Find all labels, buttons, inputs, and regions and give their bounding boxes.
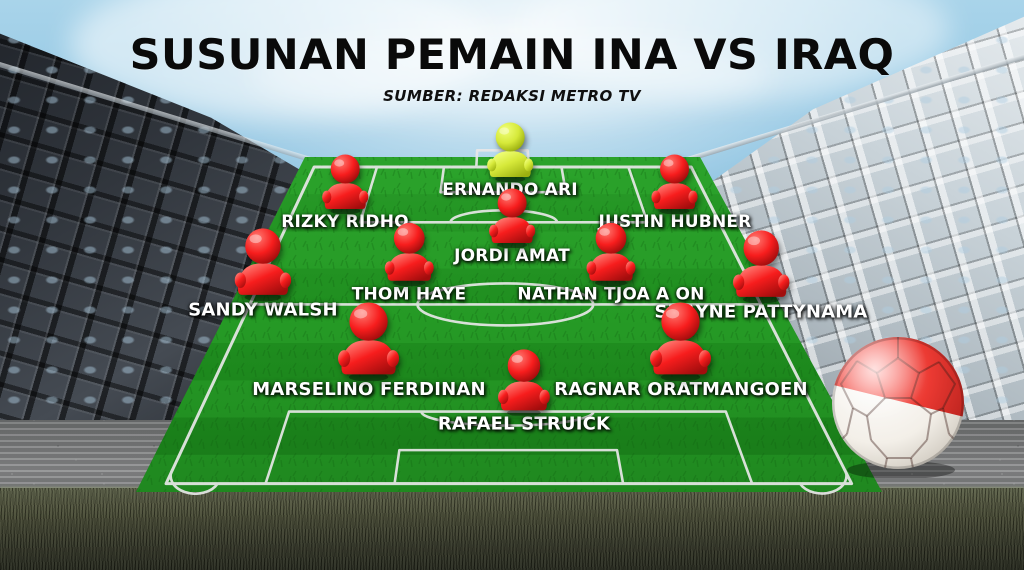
player-avatar-icon: [583, 220, 638, 286]
player-avatar-icon: [484, 120, 536, 182]
player-avatar-icon: [729, 227, 792, 303]
player-marker[interactable]: THOM HAYE: [352, 220, 467, 304]
player-avatar-icon: [649, 152, 701, 214]
page-subtitle: SUMBER: REDAKSI METRO TV: [0, 87, 1024, 105]
player-avatar-icon: [381, 220, 436, 286]
player-avatar-icon: [335, 299, 404, 381]
player-marker[interactable]: RAFAEL STRUICK: [438, 347, 610, 435]
header: SUSUNAN PEMAIN INA VS IRAQ SUMBER: REDAK…: [0, 30, 1024, 105]
broadcast-graphic: SUSUNAN PEMAIN INA VS IRAQ SUMBER: REDAK…: [0, 0, 1024, 570]
player-name-label: RAFAEL STRUICK: [438, 414, 610, 435]
player-avatar-icon: [647, 299, 716, 381]
soccer-ball-icon: [823, 328, 973, 478]
player-avatar-icon: [231, 225, 294, 301]
player-avatar-icon: [319, 152, 371, 214]
player-avatar-icon: [495, 347, 553, 416]
page-title: SUSUNAN PEMAIN INA VS IRAQ: [0, 30, 1024, 79]
